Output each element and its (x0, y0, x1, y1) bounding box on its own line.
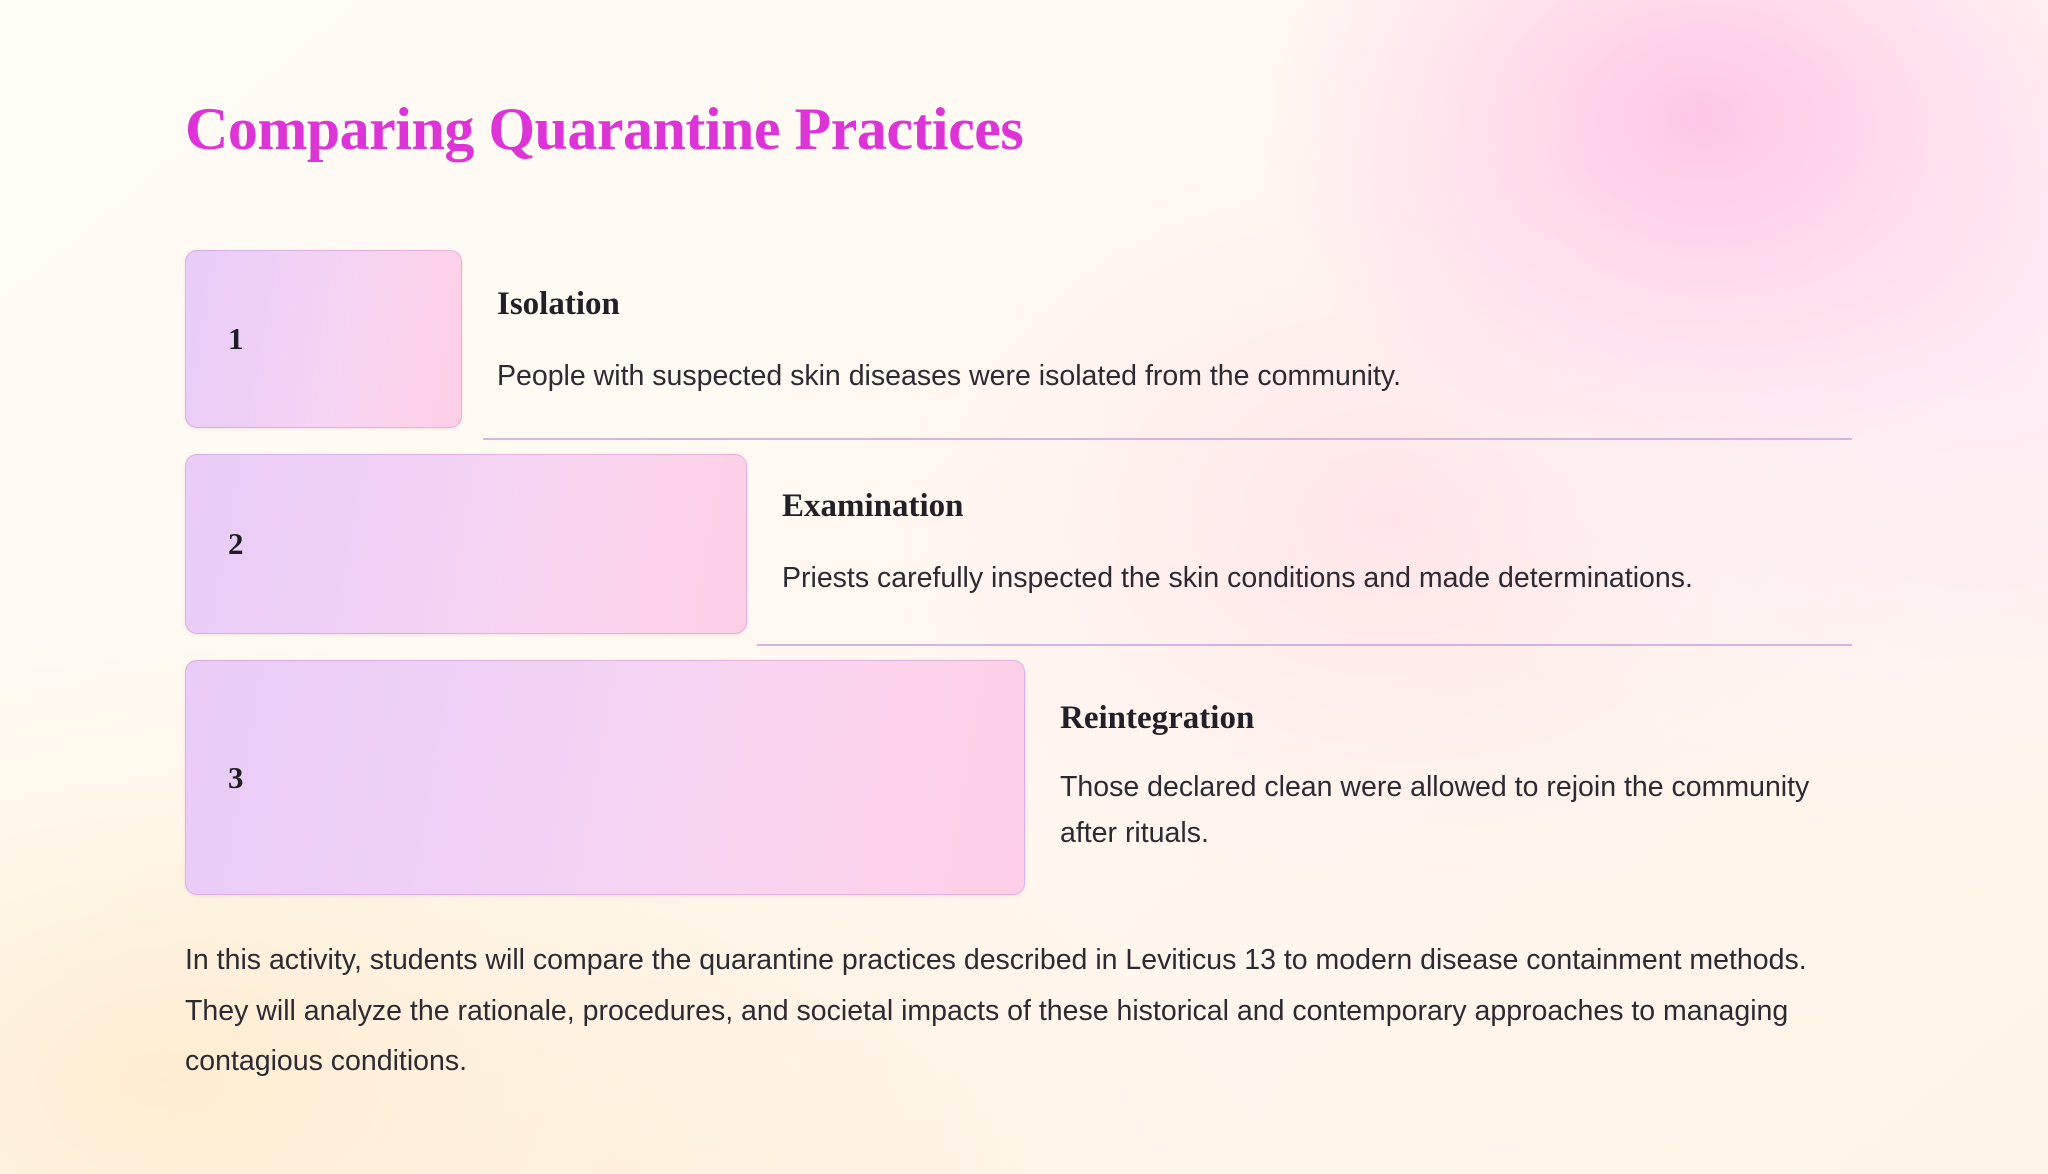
step-number-card: 3 (185, 660, 1025, 895)
page-title: Comparing Quarantine Practices (185, 96, 1023, 163)
step-content: Examination Priests carefully inspected … (747, 454, 1852, 634)
step-content: Isolation People with suspected skin dis… (462, 250, 1852, 428)
step-number: 3 (228, 760, 244, 796)
step-title: Examination (782, 487, 1852, 527)
steps-list: 1 Isolation People with suspected skin d… (0, 250, 2048, 895)
step-description: Priests carefully inspected the skin con… (782, 555, 1852, 601)
step-title: Isolation (497, 285, 1852, 325)
step-number: 1 (228, 321, 244, 357)
step-row: 1 Isolation People with suspected skin d… (0, 250, 2048, 428)
step-number-card: 2 (185, 454, 747, 634)
step-content: Reintegration Those declared clean were … (1025, 660, 1852, 895)
step-row: 3 Reintegration Those declared clean wer… (0, 660, 2048, 895)
step-description: People with suspected skin diseases were… (497, 353, 1852, 399)
step-number: 2 (228, 526, 244, 562)
activity-description: In this activity, students will compare … (185, 935, 1865, 1087)
step-divider (757, 644, 1852, 646)
step-number-card: 1 (185, 250, 462, 428)
step-description: Those declared clean were allowed to rej… (1060, 764, 1850, 856)
step-row: 2 Examination Priests carefully inspecte… (0, 454, 2048, 634)
slide-canvas: Comparing Quarantine Practices 1 Isolati… (0, 0, 2048, 1174)
step-title: Reintegration (1060, 699, 1852, 739)
step-divider (483, 438, 1852, 440)
